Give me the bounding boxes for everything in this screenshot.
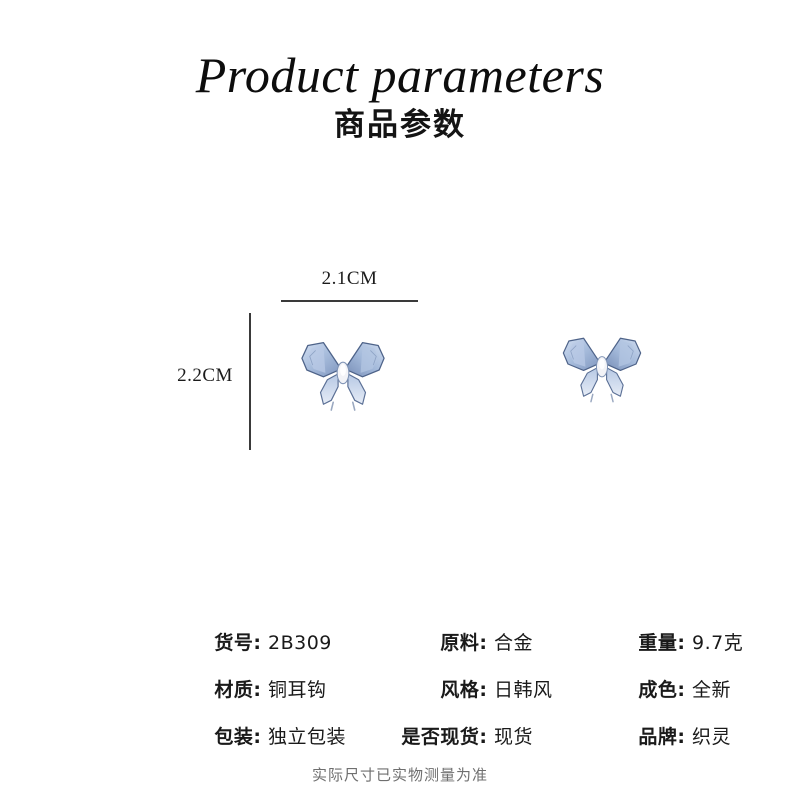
page-title-english: Product parameters <box>0 48 800 102</box>
spec-colon: : <box>253 726 268 748</box>
spec-colon: : <box>677 726 692 748</box>
spec-colon: : <box>479 726 494 748</box>
specification-table: 货号:2B309 原料:合金 重量:9.7克 材质:铜耳钩 风格:日韩风 成色:… <box>150 628 770 769</box>
page-title-chinese: 商品参数 <box>0 107 800 144</box>
spec-item-texture: 材质:铜耳钩 <box>150 675 380 702</box>
spec-value: 日韩风 <box>494 675 598 702</box>
table-row: 包装:独立包装 是否现货:现货 品牌:织灵 <box>150 722 770 769</box>
spec-label: 风格 <box>440 675 479 702</box>
table-row: 材质:铜耳钩 风格:日韩风 成色:全新 <box>150 675 770 722</box>
table-row: 货号:2B309 原料:合金 重量:9.7克 <box>150 628 770 675</box>
width-dimension-label: 2.1CM <box>281 268 418 290</box>
spec-label: 重量 <box>638 628 677 655</box>
butterfly-earring-left-image <box>294 326 392 414</box>
spec-value: 全新 <box>692 675 770 702</box>
spec-value: 2B309 <box>268 632 380 654</box>
spec-colon: : <box>253 679 268 701</box>
spec-label: 包装 <box>214 722 253 749</box>
spec-value: 9.7克 <box>692 628 770 655</box>
spec-label: 原料 <box>440 628 479 655</box>
spec-item-condition: 成色:全新 <box>598 675 770 702</box>
spec-item-article-number: 货号:2B309 <box>150 628 380 655</box>
spec-value: 现货 <box>494 722 598 749</box>
spec-label: 材质 <box>214 675 253 702</box>
spec-value: 合金 <box>494 628 598 655</box>
spec-value: 铜耳钩 <box>268 675 380 702</box>
spec-colon: : <box>677 679 692 701</box>
width-dimension-line <box>281 300 418 302</box>
spec-item-material-raw: 原料:合金 <box>380 628 598 655</box>
spec-value: 独立包装 <box>268 722 380 749</box>
spec-colon: : <box>677 632 692 654</box>
product-parameters-page: Product parameters 商品参数 2.1CM 2.2CM <box>0 0 800 800</box>
spec-item-style: 风格:日韩风 <box>380 675 598 702</box>
spec-label: 货号 <box>214 628 253 655</box>
spec-label: 是否现货 <box>401 722 479 749</box>
spec-label: 成色 <box>638 675 677 702</box>
spec-label: 品牌 <box>638 722 677 749</box>
spec-value: 织灵 <box>692 722 770 749</box>
spec-item-packaging: 包装:独立包装 <box>150 722 380 749</box>
height-dimension-label: 2.2CM <box>168 365 242 387</box>
spec-colon: : <box>479 632 494 654</box>
butterfly-earring-right-image <box>556 322 648 406</box>
height-dimension-line <box>249 313 251 450</box>
spec-item-weight: 重量:9.7克 <box>598 628 770 655</box>
footer-disclaimer: 实际尺寸已实物测量为准 <box>0 764 800 785</box>
spec-colon: : <box>479 679 494 701</box>
spec-colon: : <box>253 632 268 654</box>
spec-item-brand: 品牌:织灵 <box>598 722 770 749</box>
spec-item-in-stock: 是否现货:现货 <box>380 722 598 749</box>
